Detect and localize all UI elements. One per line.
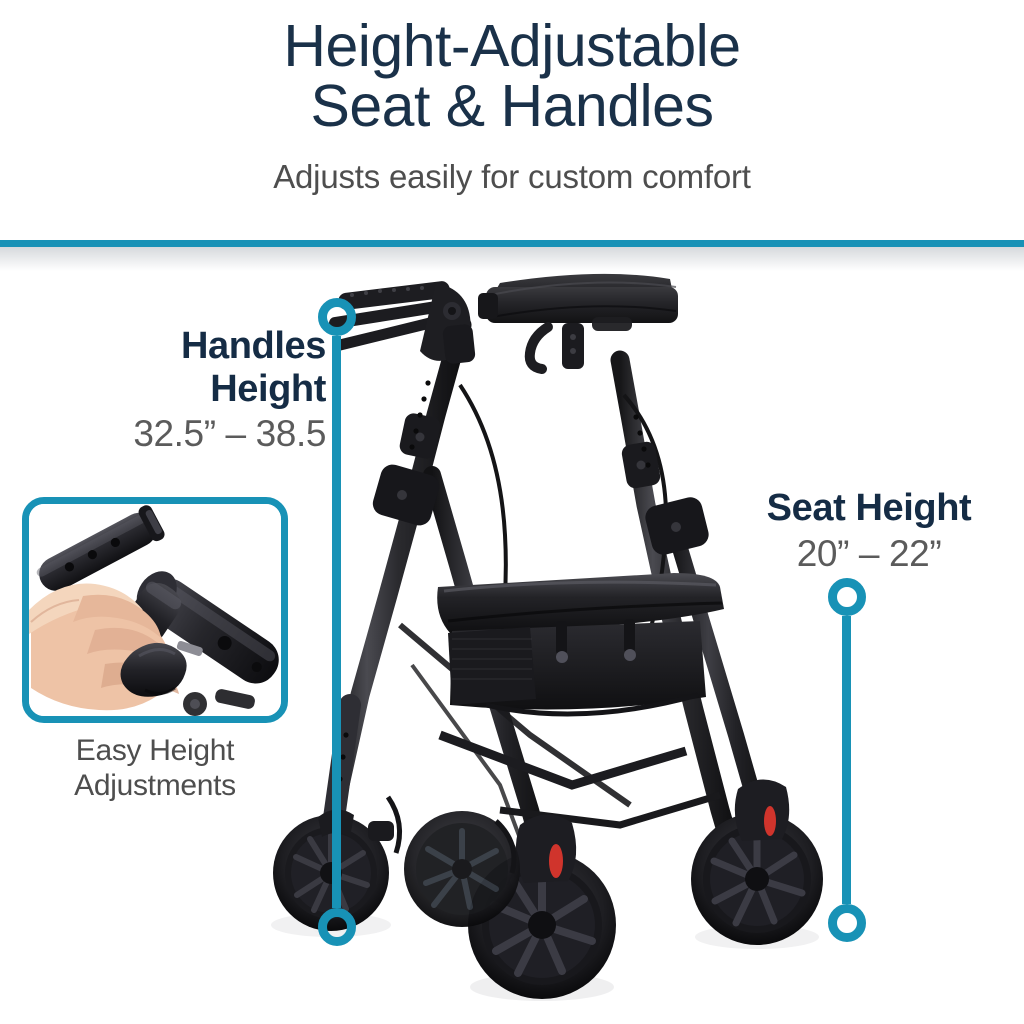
inset-caption: Easy Height Adjustments (22, 733, 288, 804)
red-accent (549, 844, 563, 878)
hand-adjusting-knob-illustration (29, 504, 281, 716)
seat-height-label: Seat Height (724, 487, 1014, 530)
seat-marker-top-ring (828, 578, 866, 616)
height-adjust-clamps (370, 324, 711, 558)
backrest (478, 274, 678, 323)
handles-height-value: 32.5” – 38.5 (38, 412, 326, 456)
easy-height-adjustment-inset (22, 497, 288, 723)
handles-height-label: Handles Height (38, 325, 326, 410)
seat-height-callout: Seat Height 20” – 22” (724, 487, 1014, 576)
header-section: Height-Adjustable Seat & Handles Adjusts… (0, 0, 1024, 246)
seat-marker-bottom-ring (828, 904, 866, 942)
red-accent (764, 806, 776, 836)
adjustment-holes (409, 380, 650, 467)
header-divider-shadow (0, 247, 1024, 271)
storage-bag (448, 619, 706, 714)
handle-assembly-right (592, 317, 632, 331)
promo-infographic: Height-Adjustable Seat & Handles Adjusts… (0, 0, 1024, 1024)
handles-height-callout: Handles Height 32.5” – 38.5 (38, 325, 326, 456)
page-subtitle: Adjusts easily for custom comfort (273, 158, 751, 196)
seat (437, 573, 724, 633)
wheel-rear-right (404, 811, 520, 927)
wheel-front-right (691, 779, 823, 945)
header-divider (0, 240, 1024, 247)
wheel-front-left (468, 814, 616, 999)
seat-height-value: 20” – 22” (724, 532, 1014, 576)
page-title: Height-Adjustable Seat & Handles (283, 16, 740, 136)
handles-marker-line (332, 336, 341, 908)
handles-marker-bottom-ring (318, 908, 356, 946)
seat-marker-line (842, 616, 851, 904)
